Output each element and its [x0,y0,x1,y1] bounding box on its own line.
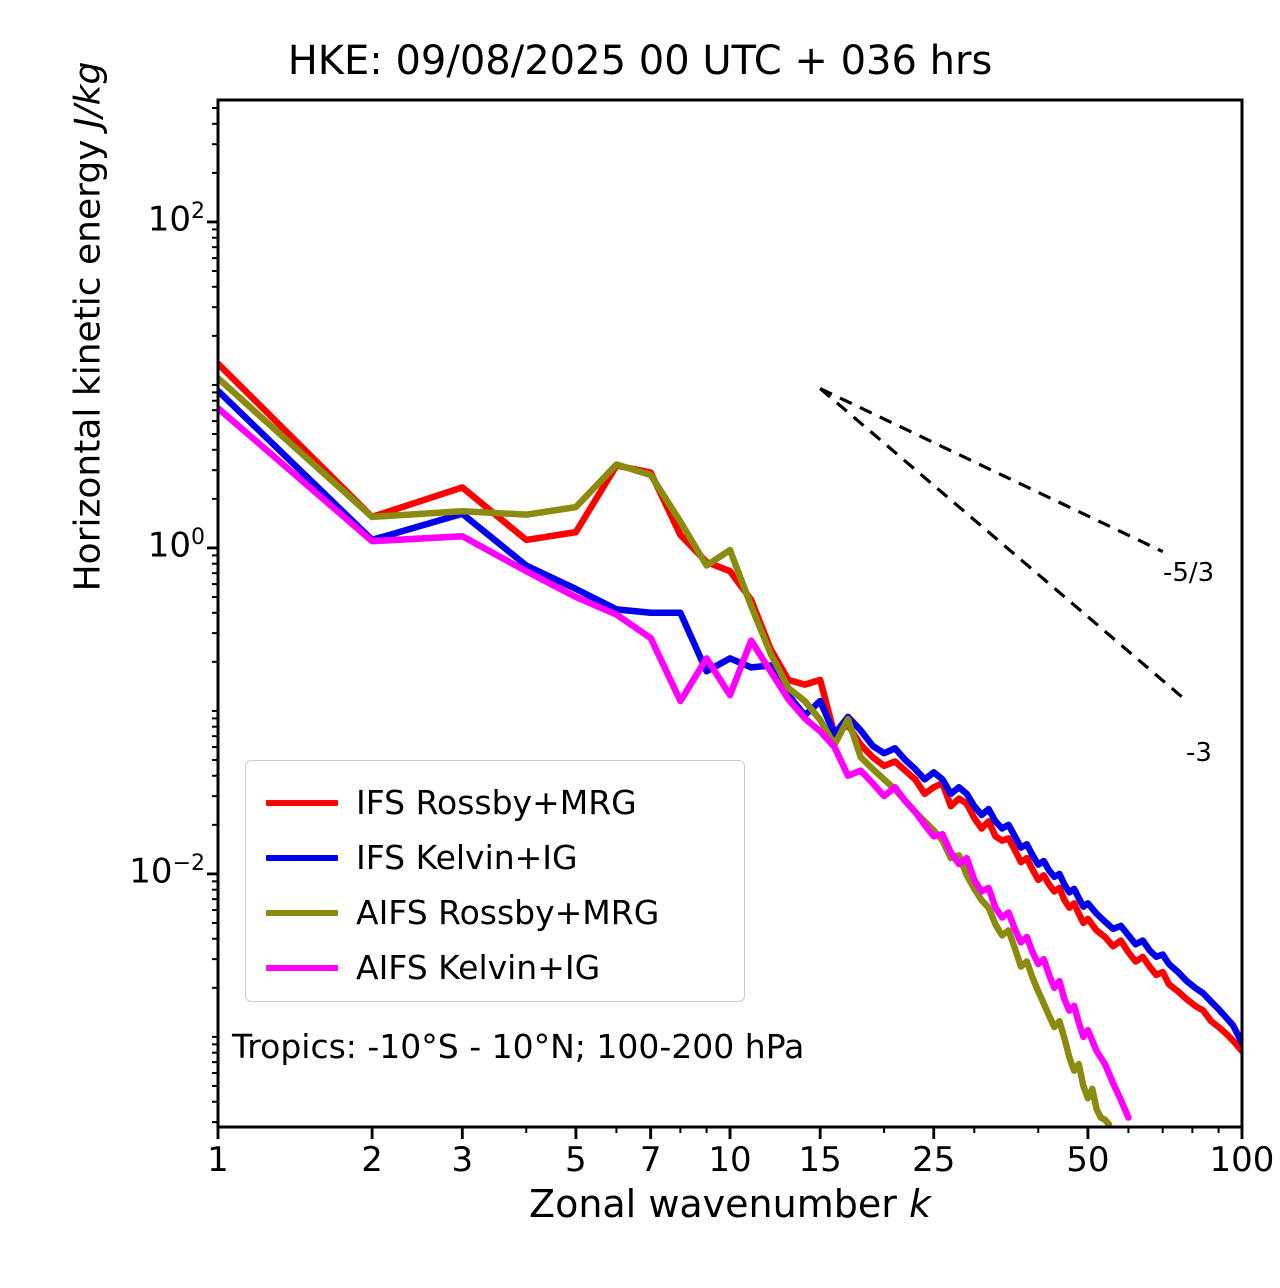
slope-label-five-thirds: -5/3 [1163,558,1214,588]
x-tick-label-9: 100 [1192,1140,1280,1180]
legend-item-3[interactable]: AIFS Kelvin+IG [246,940,744,995]
reference-line--5-3 [820,389,1163,552]
reference-line--3 [820,389,1187,701]
y-tick-exponent: 0 [191,525,205,550]
legend-swatch-0 [266,800,338,806]
y-tick-exponent: −2 [173,851,205,876]
legend-item-1[interactable]: IFS Kelvin+IG [246,830,744,885]
x-tick-label-2: 3 [412,1140,512,1180]
x-tick-label-8: 50 [1038,1140,1138,1180]
reference-slope-lines [820,389,1187,701]
x-tick-label-0: 1 [168,1140,268,1180]
legend-swatch-3 [266,965,338,971]
legend-label-3: AIFS Kelvin+IG [356,948,600,987]
y-tick-mantissa: 10 [148,199,191,239]
slope-label-three: -3 [1186,738,1212,768]
legend-label-2: AIFS Rossby+MRG [356,893,659,932]
x-tick-label-1: 2 [322,1140,422,1180]
legend-label-1: IFS Kelvin+IG [356,838,578,877]
region-annotation: Tropics: -10°S - 10°N; 100-200 hPa [232,1027,804,1066]
y-tick-label-1: 100 [110,525,205,565]
legend: IFS Rossby+MRGIFS Kelvin+IGAIFS Rossby+M… [245,760,745,1002]
y-tick-mantissa: 10 [148,525,191,565]
plot-canvas [0,0,1280,1288]
y-tick-label-2: 10−2 [110,851,205,891]
figure-root: HKE: 09/08/2025 00 UTC + 036 hrs Horizon… [0,0,1280,1288]
legend-label-0: IFS Rossby+MRG [356,783,637,822]
x-tick-label-6: 15 [770,1140,870,1180]
legend-swatch-1 [266,855,338,861]
series-line-2 [218,378,1109,1124]
legend-swatch-2 [266,910,338,916]
data-series-layer [218,364,1242,1125]
legend-item-2[interactable]: AIFS Rossby+MRG [246,885,744,940]
x-tick-label-7: 25 [884,1140,984,1180]
y-tick-mantissa: 10 [129,851,172,891]
y-tick-label-0: 102 [110,199,205,239]
legend-item-0[interactable]: IFS Rossby+MRG [246,775,744,830]
x-tick-label-5: 10 [680,1140,780,1180]
y-tick-exponent: 2 [191,199,205,224]
